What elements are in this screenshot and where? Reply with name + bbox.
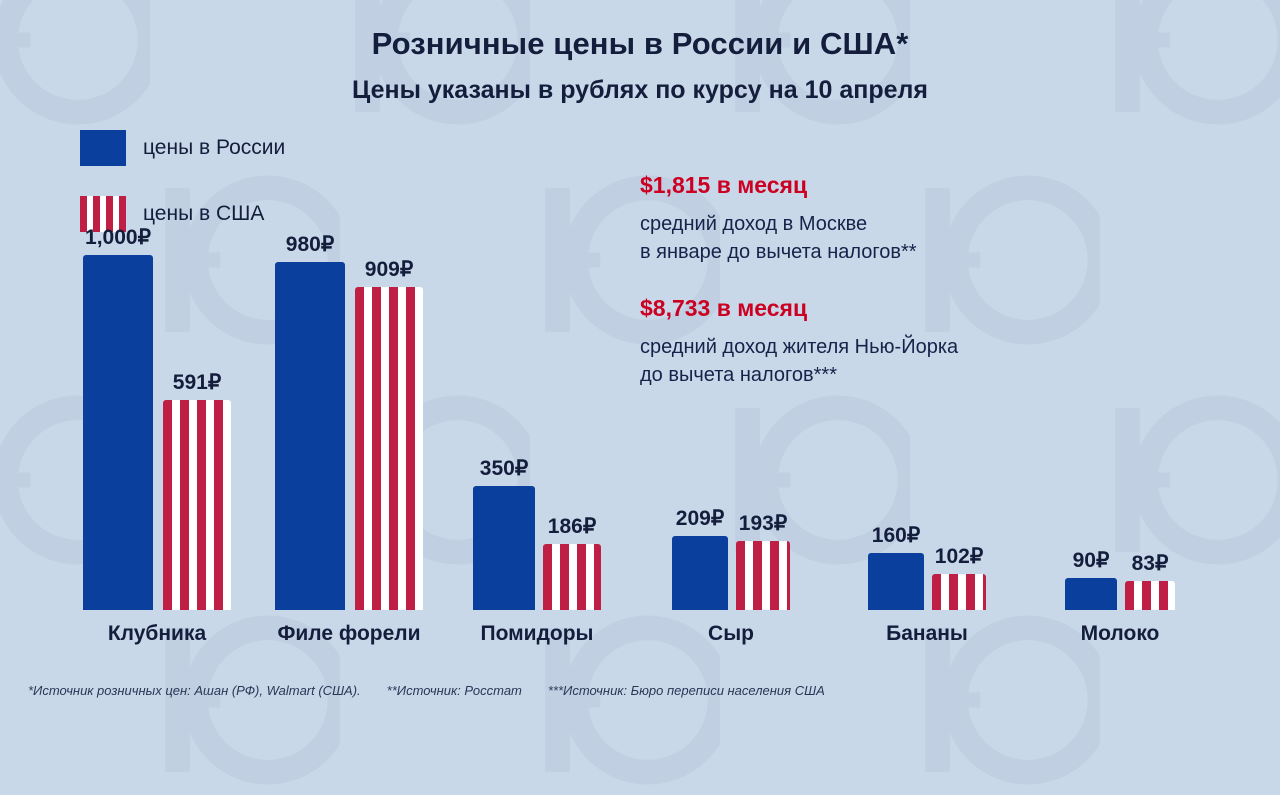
bar-value-label: 1,000₽ bbox=[85, 225, 151, 250]
category-label: Молоко bbox=[1065, 622, 1175, 646]
bar-usa: 591₽ bbox=[163, 400, 231, 610]
bar-group: 160₽102₽Бананы bbox=[868, 250, 986, 610]
legend-label-usa: цены в США bbox=[143, 202, 264, 226]
bar-value-label: 350₽ bbox=[480, 456, 528, 481]
bar-value-label: 102₽ bbox=[935, 544, 983, 569]
legend-label-russia: цены в России bbox=[143, 136, 285, 160]
category-label: Бананы bbox=[868, 622, 986, 646]
bar-usa: 83₽ bbox=[1125, 581, 1175, 610]
bar-russia: 160₽ bbox=[868, 553, 924, 610]
bar-group: 980₽909₽Филе форели bbox=[275, 250, 423, 610]
footnote: ***Источник: Бюро переписи населения США bbox=[548, 683, 825, 698]
price-comparison-bar-chart: 1,000₽591₽Клубника980₽909₽Филе форели350… bbox=[0, 250, 1280, 610]
legend-item-russia: цены в России bbox=[80, 128, 285, 168]
bar-russia: 209₽ bbox=[672, 536, 728, 610]
bar-value-label: 193₽ bbox=[739, 511, 787, 536]
bar-russia: 90₽ bbox=[1065, 578, 1117, 610]
bar-group: 90₽83₽Молоко bbox=[1065, 250, 1175, 610]
bar-russia: 350₽ bbox=[473, 486, 535, 610]
bar-russia: 980₽ bbox=[275, 262, 345, 610]
bar-group: 1,000₽591₽Клубника bbox=[83, 250, 231, 610]
bar-value-label: 83₽ bbox=[1132, 551, 1169, 576]
page-subtitle: Цены указаны в рублях по курсу на 10 апр… bbox=[0, 76, 1280, 105]
page-title: Розничные цены в России и США* bbox=[0, 26, 1280, 62]
bar-usa: 102₽ bbox=[932, 574, 986, 610]
bar-value-label: 591₽ bbox=[173, 370, 221, 395]
bar-usa: 193₽ bbox=[736, 541, 790, 610]
bar-value-label: 186₽ bbox=[548, 514, 596, 539]
footnotes: *Источник розничных цен: Ашан (РФ), Walm… bbox=[28, 683, 851, 698]
bar-value-label: 209₽ bbox=[676, 506, 724, 531]
bar-russia: 1,000₽ bbox=[83, 255, 153, 610]
category-label: Филе форели bbox=[275, 622, 423, 646]
income-amount-moscow: $1,815 в месяц bbox=[640, 172, 1160, 199]
category-label: Клубника bbox=[83, 622, 231, 646]
bar-usa: 909₽ bbox=[355, 287, 423, 610]
legend-swatch-russia-icon bbox=[80, 130, 126, 166]
category-label: Сыр bbox=[672, 622, 790, 646]
category-label: Помидоры bbox=[473, 622, 601, 646]
bar-value-label: 160₽ bbox=[872, 523, 920, 548]
bar-group: 350₽186₽Помидоры bbox=[473, 250, 601, 610]
bar-value-label: 90₽ bbox=[1073, 548, 1110, 573]
footnote: *Источник розничных цен: Ашан (РФ), Walm… bbox=[28, 683, 361, 698]
income-desc-moscow-line1: средний доход в Москве bbox=[640, 210, 1160, 238]
footnote: **Источник: Росстат bbox=[387, 683, 522, 698]
bar-value-label: 980₽ bbox=[286, 232, 334, 257]
bar-value-label: 909₽ bbox=[365, 257, 413, 282]
bar-usa: 186₽ bbox=[543, 544, 601, 610]
bar-group: 209₽193₽Сыр bbox=[672, 250, 790, 610]
